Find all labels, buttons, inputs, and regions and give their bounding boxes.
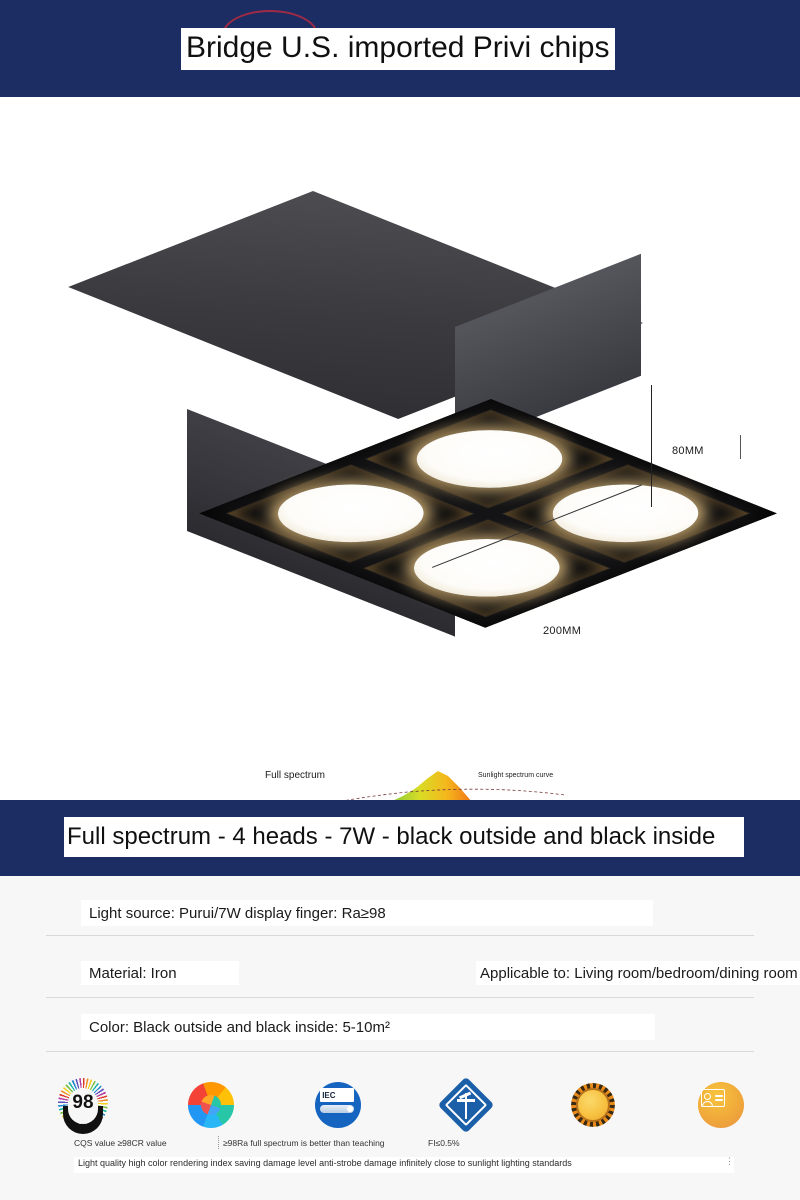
product-image	[150, 177, 670, 597]
product-detail-page: Bridge U.S. imported Privi chips	[0, 0, 800, 1200]
feature-caption-1: CQS value ≥98CR value	[74, 1138, 167, 1148]
diamond-glyph-icon	[461, 1093, 471, 1119]
cri-sub-label: CRI	[71, 1120, 95, 1126]
cri-98-badge-icon: 98 CRI	[52, 1076, 114, 1138]
feature-icon-row: 98 CRI IEC	[52, 1076, 752, 1138]
spec-material: Material: Iron	[89, 962, 177, 986]
spec-color: Color: Black outside and black inside: 5…	[89, 1016, 390, 1040]
iec-slider-icon	[320, 1105, 354, 1113]
iec-label: IEC	[320, 1088, 354, 1102]
feature-captions: CQS value ≥98CR value ≥98Ra full spectru…	[0, 1138, 800, 1154]
lamp-head-grid	[199, 399, 777, 628]
top-banner-title: Bridge U.S. imported Privi chips	[186, 31, 610, 64]
spec-divider	[46, 935, 754, 936]
spec-light-source: Light source: Purui/7W display finger: R…	[89, 902, 386, 926]
features-section: 98 CRI IEC	[0, 1072, 800, 1200]
certificate-person-body-icon	[702, 1101, 713, 1107]
middle-banner-title: Full spectrum - 4 heads - 7W - black out…	[67, 821, 715, 853]
certificate-person-icon	[704, 1093, 711, 1100]
height-dimension-line	[651, 385, 652, 507]
top-banner-textbox: Bridge U.S. imported Privi chips	[181, 28, 615, 70]
specs-list: Light source: Purui/7W display finger: R…	[0, 876, 800, 1072]
feature-summary: Light quality high color rendering index…	[78, 1158, 572, 1168]
spec-applicable-to: Applicable to: Living room/bedroom/dinin…	[480, 962, 798, 986]
top-banner: Bridge U.S. imported Privi chips	[0, 0, 800, 97]
height-dimension-label: 80MM	[672, 445, 704, 457]
summary-ellipsis: ⋮	[725, 1156, 734, 1167]
feature-caption-3: FI≤0.5%	[428, 1138, 460, 1148]
lamp-illustration	[150, 177, 670, 597]
middle-banner: Full spectrum - 4 heads - 7W - black out…	[0, 800, 800, 876]
lamp-glow-icon	[384, 527, 590, 609]
color-pinwheel-icon	[180, 1076, 242, 1138]
lamp-glow-icon	[386, 418, 592, 500]
spec-divider	[46, 997, 754, 998]
lamp-glow-icon	[523, 473, 729, 555]
feature-caption-2: ≥98Ra full spectrum is better than teach…	[223, 1138, 385, 1148]
blue-diamond-emblem-icon	[435, 1076, 497, 1138]
lamp-bottom-face	[199, 399, 777, 628]
lamp-glow-icon	[247, 473, 453, 555]
sun-badge-icon	[562, 1076, 624, 1138]
caption-separator	[218, 1136, 219, 1149]
iec-certification-icon: IEC	[307, 1076, 369, 1138]
spec-divider	[46, 1051, 754, 1052]
height-dimension-endmark	[740, 435, 741, 459]
width-dimension-label: 200MM	[543, 625, 581, 637]
pinwheel-shape-icon	[188, 1082, 234, 1128]
product-hero: 80MM 200MM Full spectrum Sunlight spectr…	[0, 97, 800, 800]
certificate-portrait-icon	[690, 1076, 752, 1138]
